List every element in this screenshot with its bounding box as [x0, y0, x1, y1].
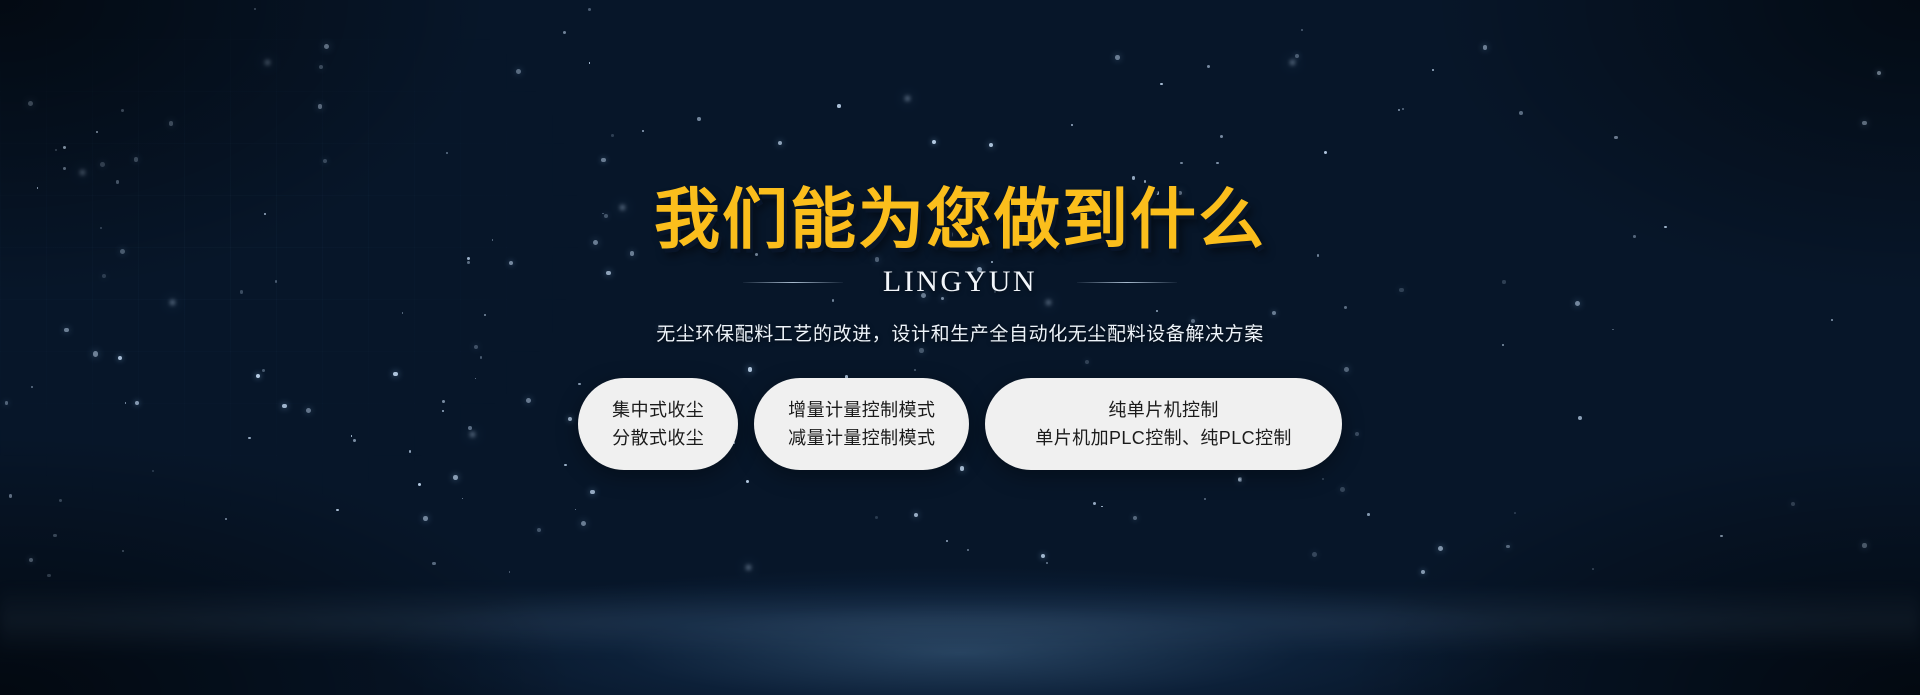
hero-banner: 我们能为您做到什么 LINGYUN 无尘环保配料工艺的改进，设计和生产全自动化无… — [0, 0, 1920, 695]
feature-pill-dust-collection[interactable]: 集中式收尘 分散式收尘 — [578, 378, 738, 470]
pill-line-2: 单片机加PLC控制、纯PLC控制 — [1035, 429, 1291, 447]
page-subtitle: 无尘环保配料工艺的改进，设计和生产全自动化无尘配料设备解决方案 — [656, 319, 1264, 346]
pill-line-1: 纯单片机控制 — [1108, 401, 1218, 419]
brand-name: LINGYUN — [883, 265, 1037, 299]
pill-line-2: 减量计量控制模式 — [788, 429, 935, 447]
divider-right — [1077, 282, 1177, 283]
page-title: 我们能为您做到什么 — [654, 186, 1266, 253]
pill-line-1: 集中式收尘 — [612, 401, 704, 419]
brand-row: LINGYUN — [743, 265, 1177, 299]
pill-line-2: 分散式收尘 — [612, 429, 704, 447]
feature-pill-group: 集中式收尘 分散式收尘 增量计量控制模式 减量计量控制模式 纯单片机控制 单片机… — [578, 378, 1342, 470]
pill-line-1: 增量计量控制模式 — [788, 401, 935, 419]
feature-pill-metering-mode[interactable]: 增量计量控制模式 减量计量控制模式 — [754, 378, 969, 470]
feature-pill-control-system[interactable]: 纯单片机控制 单片机加PLC控制、纯PLC控制 — [985, 378, 1341, 470]
banner-content: 我们能为您做到什么 LINGYUN 无尘环保配料工艺的改进，设计和生产全自动化无… — [0, 0, 1920, 695]
divider-left — [743, 282, 843, 283]
